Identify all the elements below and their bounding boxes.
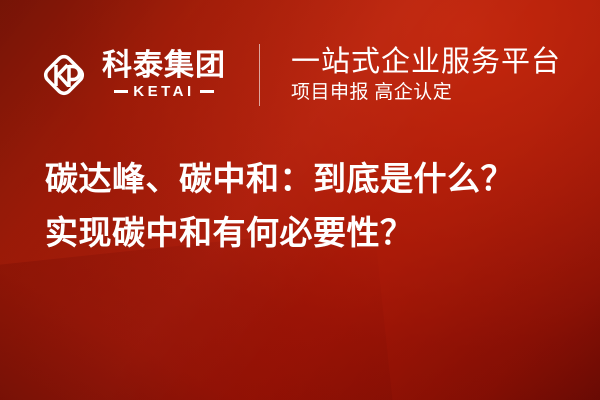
- brand-wordmark: 科泰集团 KETAI: [102, 51, 226, 99]
- brand-name-en: KETAI: [133, 84, 194, 99]
- headline-line-2: 实现碳中和有何必要性？: [45, 206, 565, 260]
- tagline-primary: 一站式企业服务平台: [291, 46, 561, 78]
- headline-block: 碳达峰、碳中和：到底是什么？ 实现碳中和有何必要性？: [45, 152, 565, 260]
- brand-name-en-row: KETAI: [114, 84, 213, 99]
- header-divider: [259, 44, 260, 106]
- brand-lockup[interactable]: 科泰集团 KETAI 一站式企业服务平台 项目申报 高企认定: [39, 44, 561, 106]
- ketai-diamond-kp-logo-icon: [39, 50, 89, 100]
- tagline-block: 一站式企业服务平台 项目申报 高企认定: [291, 46, 561, 104]
- tagline-secondary: 项目申报 高企认定: [291, 82, 561, 104]
- promotional-banner: 科泰集团 KETAI 一站式企业服务平台 项目申报 高企认定 碳达峰、碳中和：到…: [0, 0, 600, 400]
- banner-header: 科泰集团 KETAI 一站式企业服务平台 项目申报 高企认定: [0, 36, 600, 114]
- wordmark-dash-left-icon: [114, 90, 128, 93]
- wordmark-dash-right-icon: [200, 90, 214, 93]
- brand-name-cn: 科泰集团: [102, 51, 226, 81]
- headline-line-1: 碳达峰、碳中和：到底是什么？: [45, 152, 565, 206]
